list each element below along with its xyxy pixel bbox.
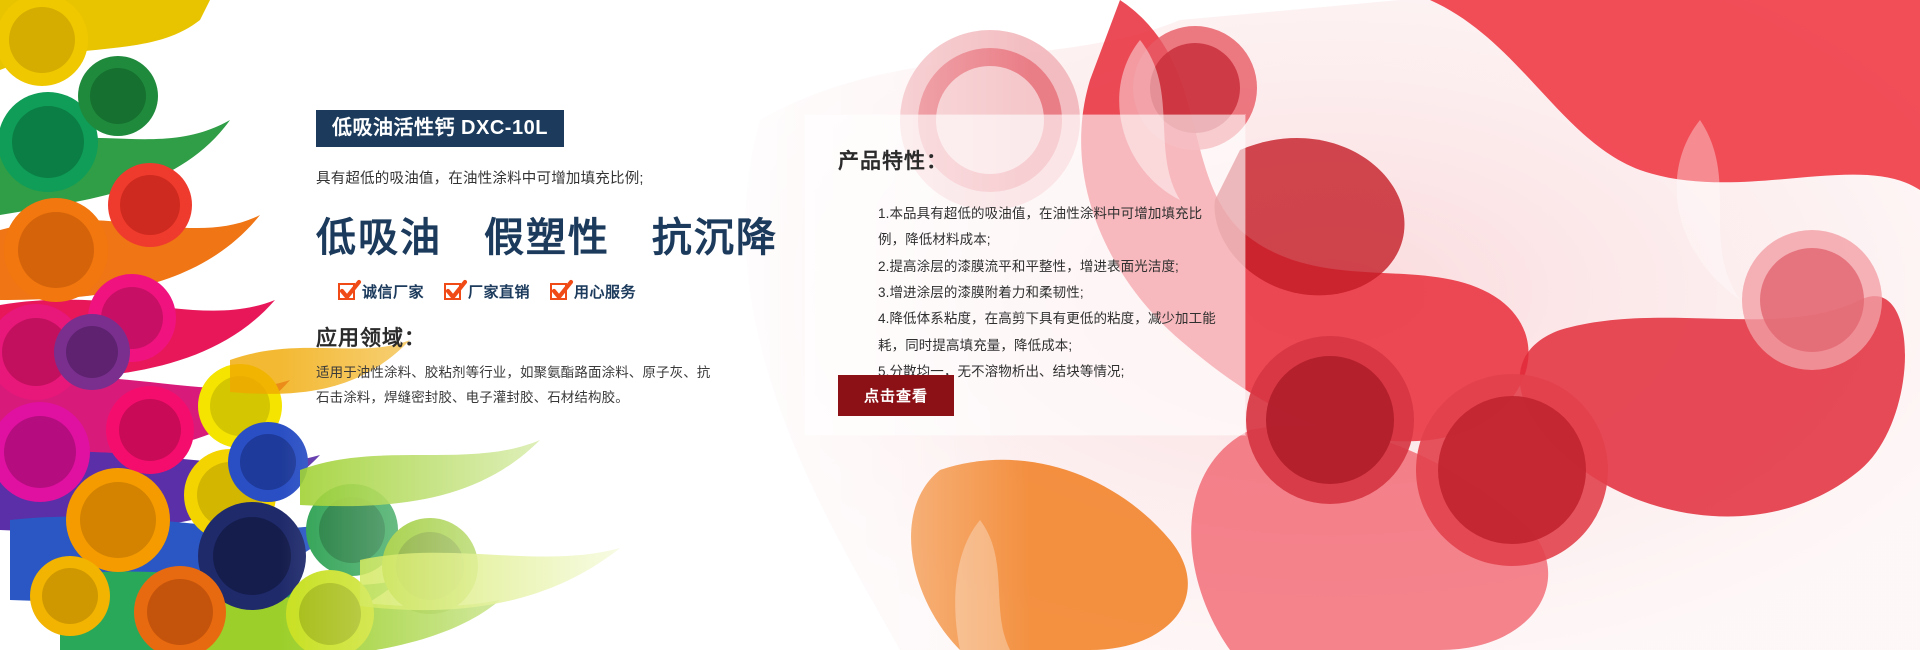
- trust-badge-label: 诚信厂家: [362, 281, 424, 302]
- trust-badge-1: 诚信厂家: [338, 281, 424, 302]
- headline-word-3: 抗沉降: [652, 214, 778, 261]
- checkbox-check-icon: [338, 283, 355, 300]
- product-name-chip: 低吸油活性钙 DXC-10L: [316, 110, 564, 147]
- features-panel-title: 产品特性：: [838, 145, 1227, 175]
- feature-list-item: 3.增进涂层的漆膜附着力和柔韧性;: [878, 280, 1227, 306]
- product-subtitle: 具有超低的吸油值，在油性涂料中可增加填充比例;: [316, 169, 736, 191]
- trust-badge-label: 厂家直销: [468, 281, 530, 302]
- feature-list-item: 4.降低体系粘度，在高剪下具有更低的粘度，减少加工能耗，同时提高填充量，降低成本…: [878, 306, 1227, 359]
- features-list: 1.本品具有超低的吸油值，在油性涂料中可增加填充比例，降低材料成本; 2.提高涂…: [838, 201, 1227, 385]
- banner-root: 低吸油活性钙 DXC-10L 具有超低的吸油值，在油性涂料中可增加填充比例; 低…: [0, 0, 1920, 650]
- trust-badge-label: 用心服务: [574, 281, 636, 302]
- checkbox-check-icon: [550, 283, 567, 300]
- left-content-block: 低吸油活性钙 DXC-10L 具有超低的吸油值，在油性涂料中可增加填充比例; 低…: [316, 110, 736, 411]
- application-section-body: 适用于油性涂料、胶粘剂等行业，如聚氨酯路面涂料、原子灰、抗石击涂料，焊缝密封胶、…: [316, 361, 716, 411]
- feature-headline: 低吸油 假塑性 抗沉降: [316, 205, 736, 263]
- trust-badge-row: 诚信厂家 厂家直销 用心服务: [316, 281, 736, 302]
- feature-list-item: 1.本品具有超低的吸油值，在油性涂料中可增加填充比例，降低材料成本;: [878, 201, 1227, 254]
- application-section-title: 应用领域：: [316, 322, 736, 352]
- trust-badge-2: 厂家直销: [444, 281, 530, 302]
- trust-badge-3: 用心服务: [550, 281, 636, 302]
- checkbox-check-icon: [444, 283, 461, 300]
- feature-list-item: 2.提高涂层的漆膜流平和平整性，增进表面光洁度;: [878, 254, 1227, 280]
- headline-word-1: 低吸油: [316, 214, 442, 261]
- product-features-inner: 产品特性： 1.本品具有超低的吸油值，在油性涂料中可增加填充比例，降低材料成本;…: [838, 145, 1227, 399]
- headline-word-2: 假塑性: [484, 214, 610, 261]
- view-details-button[interactable]: 点击查看: [838, 375, 954, 416]
